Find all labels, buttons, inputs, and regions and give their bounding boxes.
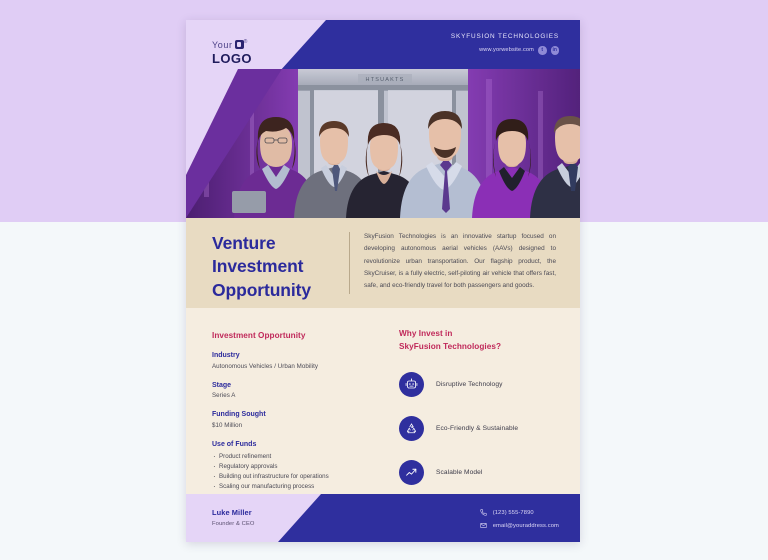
industry-label: Industry — [212, 352, 382, 359]
page-title-line-2: Investment — [212, 255, 311, 278]
footer-diagonal-shape — [186, 494, 346, 542]
use-of-funds-label: Use of Funds — [212, 441, 382, 448]
brand-name: SKYFUSION TECHNOLOGIES — [451, 33, 559, 40]
list-item: Scaling our manufacturing process — [212, 482, 382, 492]
linkedin-icon[interactable]: in — [551, 46, 560, 55]
logo-your-text: Your — [212, 40, 233, 50]
title-band: Venture Investment Opportunity SkyFusion… — [186, 218, 580, 308]
benefit-label: Eco-Friendly & Sustainable — [436, 425, 518, 432]
list-item: Product refinement — [212, 452, 382, 462]
growth-arrow-icon — [399, 460, 424, 485]
industry-value: Autonomous Vehicles / Urban Mobility — [212, 363, 382, 370]
page-title-line-1: Venture — [212, 232, 311, 255]
title-divider — [349, 232, 350, 294]
why-invest-heading-line-1: Why Invest in — [399, 328, 559, 341]
funding-sought-label: Funding Sought — [212, 411, 382, 418]
footer-contact: (123) 555-7890 email@youraddress.com — [480, 509, 559, 529]
why-invest-heading: Why Invest in SkyFusion Technologies? — [399, 328, 559, 353]
investment-opportunity-heading: Investment Opportunity — [212, 331, 382, 340]
email-address: email@youraddress.com — [493, 523, 559, 529]
team-photo: HTSUAKTS — [186, 69, 580, 218]
stage-label: Stage — [212, 382, 382, 389]
twitter-icon[interactable]: t — [538, 46, 547, 55]
robot-icon — [399, 372, 424, 397]
envelope-icon — [480, 522, 487, 529]
logo-mark-icon — [235, 40, 244, 49]
website-url[interactable]: www.yorwebsite.com — [479, 47, 534, 53]
list-item: Regulatory approvals — [212, 462, 382, 472]
person-role: Founder & CEO — [212, 521, 255, 527]
footer-person: Luke Miller Founder & CEO — [212, 508, 255, 527]
body-content: Investment Opportunity Industry Autonomo… — [186, 308, 580, 494]
page-title: Venture Investment Opportunity — [212, 232, 311, 302]
header-brand-block: SKYFUSION TECHNOLOGIES www.yorwebsite.co… — [451, 33, 559, 55]
benefit-item-scalable-model: Scalable Model — [399, 460, 559, 485]
page-title-line-3: Opportunity — [212, 279, 311, 302]
why-invest-heading-line-2: SkyFusion Technologies? — [399, 341, 559, 354]
phone-number: (123) 555-7890 — [493, 510, 534, 516]
recycle-icon — [399, 416, 424, 441]
benefit-item-eco-friendly: Eco-Friendly & Sustainable — [399, 416, 559, 441]
logo[interactable]: Your® LOGO — [212, 36, 252, 66]
phone-icon — [480, 509, 487, 516]
list-item: Building out infrastructure for operatio… — [212, 472, 382, 482]
phone-row[interactable]: (123) 555-7890 — [480, 509, 559, 516]
intro-paragraph: SkyFusion Technologies is an innovative … — [364, 231, 556, 292]
use-of-funds-list: Product refinement Regulatory approvals … — [212, 452, 382, 492]
email-row[interactable]: email@youraddress.com — [480, 522, 559, 529]
why-invest-column: Why Invest in SkyFusion Technologies? — [399, 328, 559, 485]
funding-sought-value: $10 Million — [212, 422, 382, 429]
logo-wordmark: LOGO — [212, 52, 252, 65]
logo-registered-mark: ® — [244, 39, 248, 45]
investment-opportunity-column: Investment Opportunity Industry Autonomo… — [212, 331, 382, 492]
poster-header: Your® LOGO SKYFUSION TECHNOLOGIES www.yo… — [186, 20, 580, 69]
benefit-label: Disruptive Technology — [436, 381, 503, 388]
website-row: www.yorwebsite.com t in — [451, 46, 559, 55]
poster-footer: Luke Miller Founder & CEO (123) 555-7890… — [186, 494, 580, 542]
flyer-poster: Your® LOGO SKYFUSION TECHNOLOGIES www.yo… — [186, 20, 580, 542]
benefit-item-disruptive-technology: Disruptive Technology — [399, 372, 559, 397]
person-name: Luke Miller — [212, 508, 255, 517]
stage-value: Series A — [212, 392, 382, 399]
benefit-label: Scalable Model — [436, 469, 482, 476]
